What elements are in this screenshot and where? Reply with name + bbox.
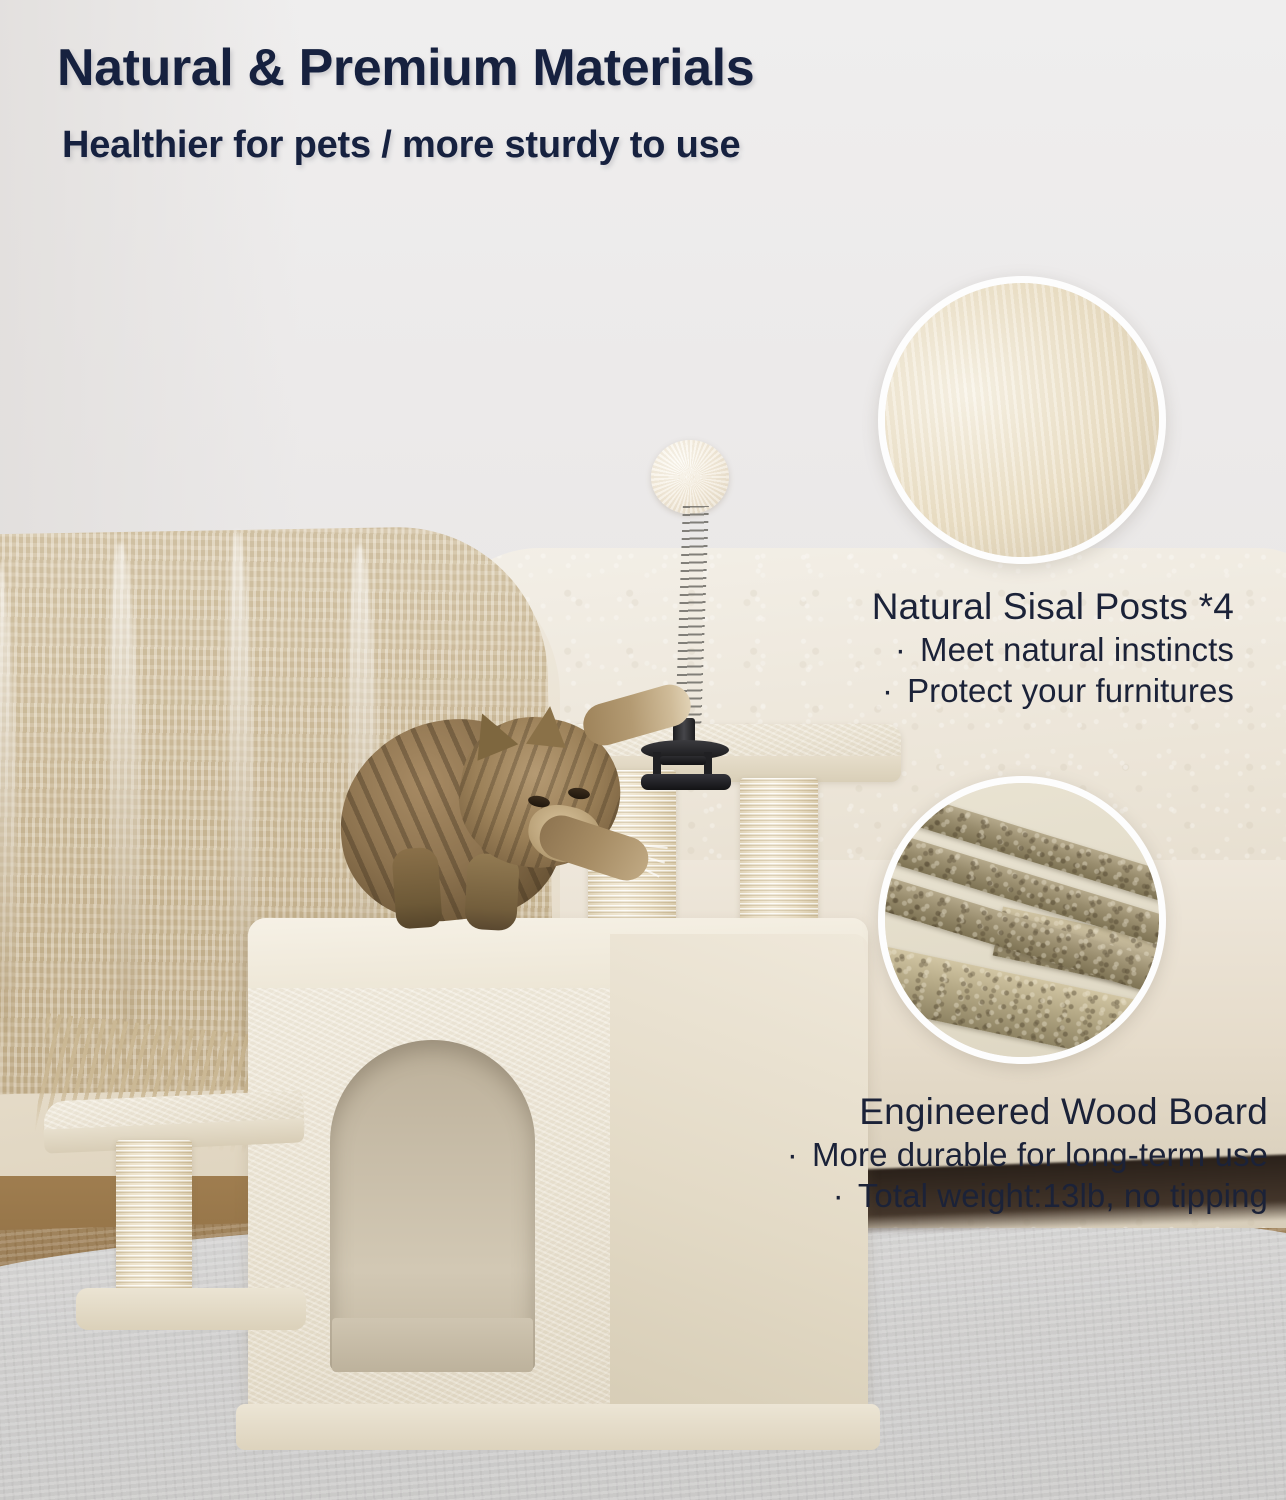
bullet-icon: ·	[895, 629, 906, 671]
callout-sisal-title: Natural Sisal Posts *4	[872, 586, 1234, 629]
sisal-post-lower-left	[116, 1140, 192, 1300]
bullet-icon: ·	[833, 1175, 844, 1217]
product-infographic: Natural & Premium Materials Healthier fo…	[0, 0, 1286, 1500]
callout-wood-item-1-text: More durable for long-term use	[812, 1136, 1268, 1173]
page-headline: Natural & Premium Materials	[57, 38, 754, 98]
callout-sisal-item-2: ·Protect your furnitures	[872, 670, 1234, 712]
cat-ear-right	[526, 704, 570, 748]
wood-board-scene	[885, 783, 1159, 1057]
callout-wood-title: Engineered Wood Board	[787, 1091, 1268, 1134]
bullet-icon: ·	[787, 1134, 798, 1176]
callout-sisal-item-2-text: Protect your furnitures	[907, 672, 1234, 709]
toy-clamp-crossbar	[660, 756, 706, 765]
callout-wood-item-2-text: Total weight:13lb, no tipping	[858, 1177, 1268, 1214]
cat-front-leg	[391, 846, 442, 929]
page-subheadline: Healthier for pets / more sturdy to use	[62, 124, 740, 167]
callout-sisal-item-1-text: Meet natural instincts	[920, 631, 1234, 668]
sisal-inset-shading	[885, 283, 1159, 557]
callout-wood-item-2: ·Total weight:13lb, no tipping	[787, 1175, 1268, 1217]
condo-base-board	[236, 1404, 880, 1450]
callout-wood: Engineered Wood Board ·More durable for …	[787, 1091, 1268, 1217]
callout-sisal: Natural Sisal Posts *4 ·Meet natural ins…	[872, 586, 1234, 712]
pompom-ball-toy	[651, 440, 729, 514]
cat-hind-leg	[464, 853, 520, 932]
callout-sisal-item-1: ·Meet natural instincts	[872, 629, 1234, 671]
engineered-wood-inset-image	[878, 776, 1166, 1064]
condo-interior-floor	[332, 1318, 533, 1372]
sisal-rope-inset-image	[878, 276, 1166, 564]
tabby-cat	[332, 676, 662, 936]
sisal-post-upper-right	[740, 778, 818, 926]
step-base-board	[76, 1288, 306, 1330]
bullet-icon: ·	[882, 670, 893, 712]
callout-wood-item-1: ·More durable for long-term use	[787, 1134, 1268, 1176]
